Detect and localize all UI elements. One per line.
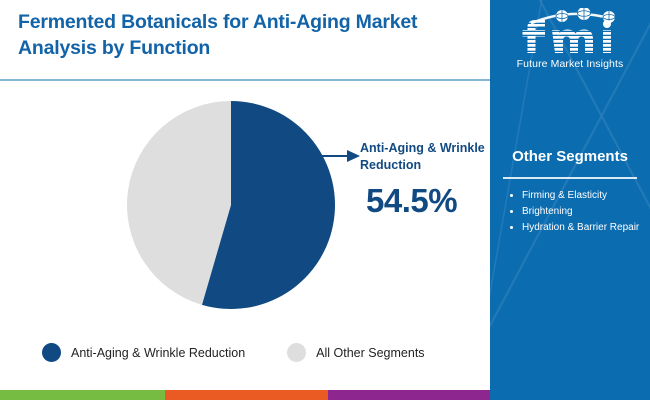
sidebar-heading-divider [503, 177, 637, 179]
legend-item-all-other-segments[interactable]: All Other Segments [287, 343, 424, 362]
list-item-label: Brightening [522, 206, 573, 217]
header-divider [0, 79, 490, 81]
fmi-logo-icon [510, 8, 630, 56]
main-panel: Fermented Botanicals for Anti-Aging Mark… [0, 0, 490, 390]
brand-logo[interactable]: Future Market Insights [490, 8, 650, 70]
sidebar-heading: Other Segments [490, 148, 650, 165]
callout-value: 54.5% [366, 182, 490, 220]
list-item[interactable]: Firming & Elasticity [508, 188, 650, 204]
website-url[interactable]: www.futuremarketinsights.com [0, 371, 160, 382]
brand-tagline: Future Market Insights [490, 58, 650, 70]
list-item-label: Hydration & Barrier Repair [522, 222, 639, 233]
bar-segment-green [0, 390, 165, 400]
page-title: Fermented Botanicals for Anti-Aging Mark… [18, 10, 473, 61]
callout-label: Anti-Aging & Wrinkle Reduction [360, 140, 488, 174]
arrow-right-icon [316, 146, 360, 166]
legend-item-label: All Other Segments [316, 346, 424, 360]
legend-dot-icon [42, 343, 61, 362]
other-segments-list: Firming & Elasticity Brightening Hydrati… [508, 188, 650, 237]
bullet-icon [510, 226, 513, 229]
chart-legend: Anti-Aging & Wrinkle Reduction All Other… [42, 343, 425, 362]
list-item[interactable]: Hydration & Barrier Repair [508, 220, 650, 236]
legend-dot-icon [287, 343, 306, 362]
bottom-color-bar [0, 390, 490, 400]
pie-chart [127, 101, 335, 309]
infographic-root: Fermented Botanicals for Anti-Aging Mark… [0, 0, 650, 400]
pie-chart-svg [127, 101, 335, 309]
bullet-icon [510, 194, 513, 197]
list-item-label: Firming & Elasticity [522, 190, 607, 201]
legend-item-label: Anti-Aging & Wrinkle Reduction [71, 346, 245, 360]
bullet-icon [510, 210, 513, 213]
bar-segment-orange [165, 390, 328, 400]
bar-segment-purple [328, 390, 490, 400]
legend-item-anti-aging[interactable]: Anti-Aging & Wrinkle Reduction [42, 343, 245, 362]
list-item[interactable]: Brightening [508, 204, 650, 220]
